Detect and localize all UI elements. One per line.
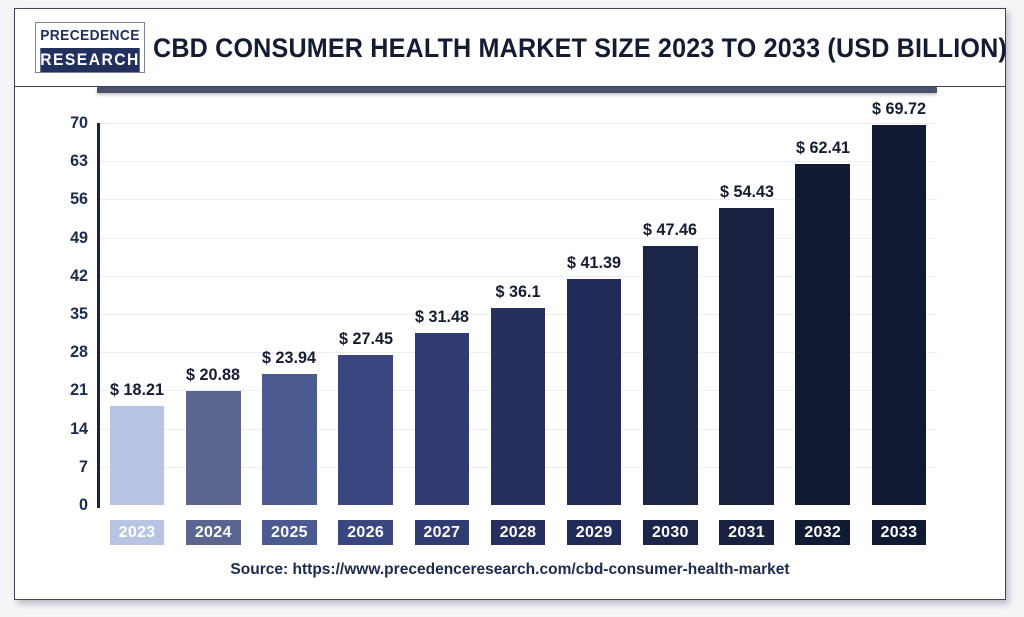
- y-axis-tick-label: 49: [52, 228, 88, 248]
- x-axis-category-label[interactable]: 2023: [110, 520, 164, 545]
- y-axis-tick-label: 0: [52, 495, 88, 515]
- bar-value-label: $ 54.43: [720, 182, 774, 202]
- bar[interactable]: $ 27.45: [338, 355, 392, 505]
- x-axis-category-label[interactable]: 2024: [186, 520, 240, 545]
- y-axis-tick-label: 70: [52, 113, 88, 133]
- precedence-research-logo: PRECEDENCE RESEARCH: [35, 22, 145, 73]
- x-axis-category-label[interactable]: 2026: [338, 520, 392, 545]
- y-axis-tick-label: 56: [52, 189, 88, 209]
- chart-card: PRECEDENCE RESEARCH CBD CONSUMER HEALTH …: [14, 8, 1006, 600]
- y-axis-tick-label: 42: [52, 266, 88, 286]
- x-axis-category-label[interactable]: 2030: [643, 520, 697, 545]
- x-axis-category-label[interactable]: 2031: [719, 520, 773, 545]
- bar[interactable]: $ 47.46: [643, 246, 697, 505]
- bar[interactable]: $ 36.1: [491, 308, 545, 505]
- x-axis-category-label[interactable]: 2025: [262, 520, 316, 545]
- bar[interactable]: $ 62.41: [795, 164, 849, 505]
- y-axis-tick-label: 35: [52, 304, 88, 324]
- y-axis-tick-label: 14: [52, 419, 88, 439]
- x-axis-category-label[interactable]: 2033: [872, 520, 926, 545]
- bar[interactable]: $ 18.21: [110, 406, 164, 505]
- x-axis-category-label[interactable]: 2028: [491, 520, 545, 545]
- y-axis-tick-label: 63: [52, 151, 88, 171]
- y-axis-tick-label: 21: [52, 380, 88, 400]
- bar-series: $ 18.212023$ 20.882024$ 23.942025$ 27.45…: [99, 87, 937, 601]
- x-axis-category-label[interactable]: 2027: [415, 520, 469, 545]
- bar-value-label: $ 62.41: [796, 138, 850, 158]
- bar[interactable]: $ 41.39: [567, 279, 621, 505]
- bar-value-label: $ 31.48: [415, 307, 469, 327]
- chart-title: CBD CONSUMER HEALTH MARKET SIZE 2023 TO …: [194, 9, 966, 87]
- bar-value-label: $ 41.39: [567, 253, 621, 273]
- x-axis-category-label[interactable]: 2029: [567, 520, 621, 545]
- source-caption: Source: https://www.precedenceresearch.c…: [30, 561, 990, 579]
- bar[interactable]: $ 23.94: [262, 374, 316, 505]
- bar[interactable]: $ 31.48: [415, 333, 469, 505]
- bar-value-label: $ 47.46: [643, 220, 697, 240]
- bar[interactable]: $ 20.88: [186, 391, 240, 505]
- bar-value-label: $ 23.94: [263, 348, 317, 368]
- plot-area: 07142128354249566370 $ 18.212023$ 20.882…: [15, 87, 1005, 601]
- bar-value-label: $ 20.88: [186, 365, 240, 385]
- chart-header: PRECEDENCE RESEARCH CBD CONSUMER HEALTH …: [15, 9, 1005, 87]
- bar-value-label: $ 69.72: [872, 99, 926, 119]
- chart-screenshot: PRECEDENCE RESEARCH CBD CONSUMER HEALTH …: [0, 0, 1024, 617]
- x-axis-category-label[interactable]: 2032: [795, 520, 849, 545]
- logo-text-precedence: PRECEDENCE: [40, 23, 139, 48]
- bar-value-label: $ 18.21: [110, 380, 164, 400]
- y-axis-tick-label: 7: [52, 457, 88, 477]
- bar-value-label: $ 27.45: [339, 329, 393, 349]
- bar[interactable]: $ 54.43: [719, 208, 773, 505]
- logo-text-research: RESEARCH: [40, 48, 139, 73]
- bar-value-label: $ 36.1: [496, 282, 541, 302]
- bar[interactable]: $ 69.72: [872, 125, 926, 505]
- y-axis-tick-label: 28: [52, 342, 88, 362]
